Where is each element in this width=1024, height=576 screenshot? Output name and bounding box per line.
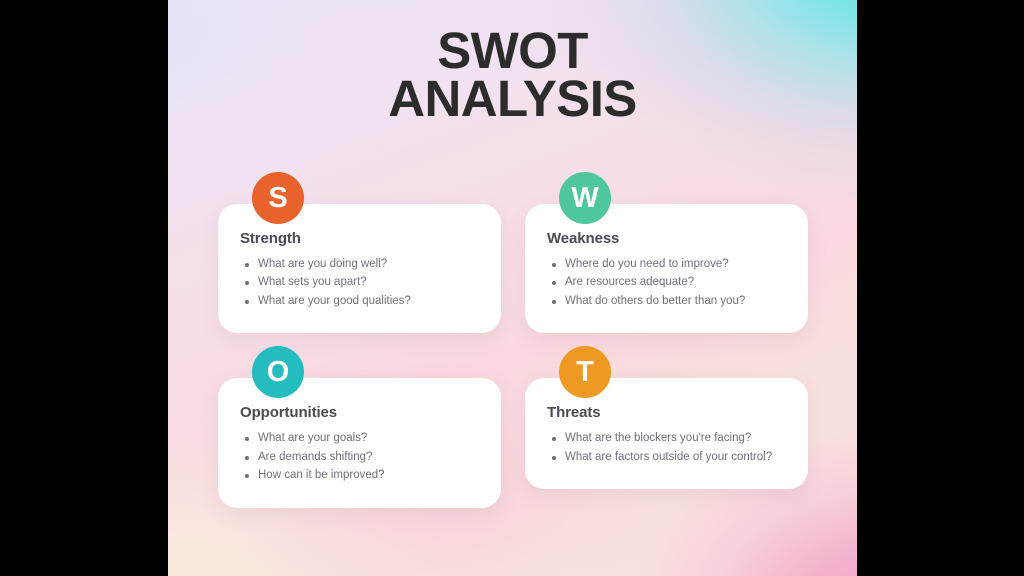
- badge-weakness-icon: W: [559, 172, 611, 224]
- list-item: What are the blockers you're facing?: [547, 430, 786, 447]
- badge-strength-icon: S: [252, 172, 304, 224]
- letterbox-left: [0, 0, 168, 576]
- card-title-weakness: Weakness: [547, 230, 786, 247]
- swot-slide: SWOT ANALYSIS S Strength What are you do…: [168, 0, 857, 576]
- list-item: What do others do better than you?: [547, 293, 786, 310]
- letterbox-right: [857, 0, 1024, 576]
- badge-weakness-letter: W: [571, 184, 598, 213]
- swot-quadrant-opportunities[interactable]: O Opportunities What are your goals? Are…: [218, 346, 501, 507]
- list-item: What are factors outside of your control…: [547, 449, 786, 466]
- bullet-list-weakness: Where do you need to improve? Are resour…: [547, 256, 786, 310]
- card-weakness[interactable]: Weakness Where do you need to improve? A…: [525, 204, 808, 333]
- badge-strength-letter: S: [268, 184, 287, 213]
- list-item: What are you doing well?: [240, 256, 479, 273]
- badge-threats-letter: T: [576, 358, 594, 387]
- slide-title: SWOT ANALYSIS: [168, 27, 857, 123]
- slide-viewer: SWOT ANALYSIS S Strength What are you do…: [0, 0, 1024, 576]
- slide-title-line-2: ANALYSIS: [168, 75, 857, 123]
- list-item: Are demands shifting?: [240, 449, 479, 466]
- card-opportunities[interactable]: Opportunities What are your goals? Are d…: [218, 378, 501, 507]
- card-strength[interactable]: Strength What are you doing well? What s…: [218, 204, 501, 333]
- badge-opportunities-letter: O: [267, 358, 290, 387]
- swot-quadrant-grid: S Strength What are you doing well? What…: [218, 172, 808, 508]
- card-title-strength: Strength: [240, 230, 479, 247]
- list-item: What are your goals?: [240, 430, 479, 447]
- card-title-threats: Threats: [547, 404, 786, 421]
- list-item: Where do you need to improve?: [547, 256, 786, 273]
- swot-quadrant-threats[interactable]: T Threats What are the blockers you're f…: [525, 346, 808, 507]
- slide-title-line-1: SWOT: [168, 27, 857, 75]
- bullet-list-opportunities: What are your goals? Are demands shiftin…: [240, 430, 479, 484]
- bullet-list-strength: What are you doing well? What sets you a…: [240, 256, 479, 310]
- swot-quadrant-weakness[interactable]: W Weakness Where do you need to improve?…: [525, 172, 808, 333]
- list-item: Are resources adequate?: [547, 274, 786, 291]
- card-threats[interactable]: Threats What are the blockers you're fac…: [525, 378, 808, 489]
- swot-quadrant-strength[interactable]: S Strength What are you doing well? What…: [218, 172, 501, 333]
- list-item: What sets you apart?: [240, 274, 479, 291]
- list-item: How can it be improved?: [240, 467, 479, 484]
- card-title-opportunities: Opportunities: [240, 404, 479, 421]
- list-item: What are your good qualities?: [240, 293, 479, 310]
- swot-row-top: S Strength What are you doing well? What…: [218, 172, 808, 333]
- swot-row-bottom: O Opportunities What are your goals? Are…: [218, 346, 808, 507]
- bullet-list-threats: What are the blockers you're facing? Wha…: [547, 430, 786, 466]
